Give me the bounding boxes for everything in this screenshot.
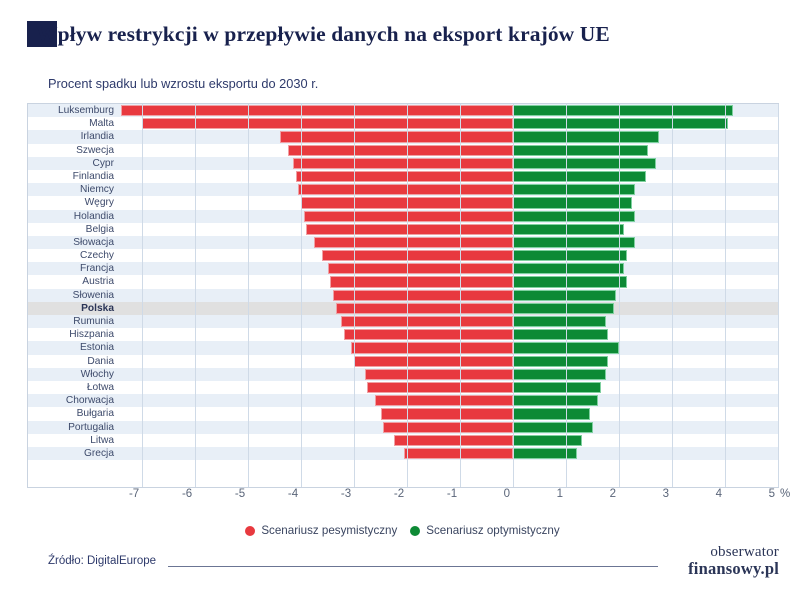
bar-pessimistic	[351, 342, 513, 353]
bar-optimistic	[513, 422, 592, 433]
bar-optimistic	[513, 290, 616, 301]
chart-row: Irlandia	[28, 130, 778, 143]
country-label: Chorwacja	[28, 394, 121, 407]
gridline	[778, 104, 779, 487]
country-label: Bułgaria	[28, 407, 121, 420]
chart-row: Holandia	[28, 210, 778, 223]
x-tick-label: -5	[235, 488, 248, 500]
bar-optimistic	[513, 263, 624, 274]
bar-pessimistic	[314, 237, 513, 248]
x-axis-unit: %	[780, 488, 790, 500]
x-tick-label: 5	[769, 488, 778, 500]
country-label: Łotwa	[28, 381, 121, 394]
country-label: Hiszpania	[28, 328, 121, 341]
chart-row: Słowenia	[28, 289, 778, 302]
legend-item[interactable]: Scenariusz optymistyczny	[410, 524, 559, 537]
chart-row: Luksemburg	[28, 104, 778, 117]
country-label: Luksemburg	[28, 104, 121, 117]
bar-optimistic	[513, 303, 614, 314]
bar-optimistic	[513, 382, 600, 393]
chart-subtitle: Procent spadku lub wzrostu eksportu do 2…	[48, 76, 318, 91]
row-plot	[121, 183, 778, 196]
country-label: Węgry	[28, 196, 121, 209]
country-label: Litwa	[28, 434, 121, 447]
chart-row: Szwecja	[28, 144, 778, 157]
bar-optimistic	[513, 237, 635, 248]
country-label: Polska	[28, 302, 121, 315]
bar-pessimistic	[288, 145, 513, 156]
chart-row: Rumunia	[28, 315, 778, 328]
chart-legend: Scenariusz pesymistycznyScenariusz optym…	[0, 524, 805, 537]
row-plot	[121, 170, 778, 183]
bar-optimistic	[513, 316, 606, 327]
chart-row: Francja	[28, 262, 778, 275]
country-label: Portugalia	[28, 421, 121, 434]
row-plot	[121, 249, 778, 262]
bar-pessimistic	[344, 329, 514, 340]
legend-label: Scenariusz optymistyczny	[426, 524, 559, 537]
legend-item[interactable]: Scenariusz pesymistyczny	[245, 524, 397, 537]
x-tick-label: -3	[341, 488, 354, 500]
chart-row: Słowacja	[28, 236, 778, 249]
bar-pessimistic	[298, 184, 513, 195]
brand-line-2: finansowy.pl	[688, 561, 779, 578]
bar-optimistic	[513, 395, 598, 406]
country-label: Słowacja	[28, 236, 121, 249]
bar-optimistic	[513, 158, 656, 169]
bar-pessimistic	[404, 448, 513, 459]
brand-line-1: obserwator	[688, 545, 779, 560]
row-plot	[121, 434, 778, 447]
chart-row: Estonia	[28, 341, 778, 354]
x-tick-label: -2	[394, 488, 407, 500]
country-label: Irlandia	[28, 130, 121, 143]
chart-page: Wpływ restrykcji w przepływie danych na …	[0, 0, 805, 589]
chart-row: Niemcy	[28, 183, 778, 196]
source-note: Źródło: DigitalEurope	[48, 555, 156, 567]
country-label: Dania	[28, 355, 121, 368]
bar-pessimistic	[142, 118, 513, 129]
country-label: Holandia	[28, 210, 121, 223]
bar-pessimistic	[381, 408, 513, 419]
chart-row: Węgry	[28, 196, 778, 209]
row-plot	[121, 117, 778, 130]
row-plot	[121, 328, 778, 341]
chart-row: Grecja	[28, 447, 778, 460]
country-label: Francja	[28, 262, 121, 275]
bar-pessimistic	[367, 382, 513, 393]
bar-pessimistic	[336, 303, 513, 314]
bar-pessimistic	[280, 131, 513, 142]
x-tick-label: -7	[129, 488, 142, 500]
bar-pessimistic	[328, 263, 513, 274]
row-plot	[121, 341, 778, 354]
row-plot	[121, 315, 778, 328]
bar-optimistic	[513, 145, 648, 156]
bar-optimistic	[513, 369, 606, 380]
chart-row: Czechy	[28, 249, 778, 262]
bar-optimistic	[513, 435, 582, 446]
row-plot	[121, 368, 778, 381]
x-tick-label: -4	[288, 488, 301, 500]
chart-row: Polska	[28, 302, 778, 315]
chart-row: Włochy	[28, 368, 778, 381]
bar-optimistic	[513, 118, 728, 129]
country-label: Włochy	[28, 368, 121, 381]
bar-optimistic	[513, 184, 635, 195]
chart-row: Belgia	[28, 223, 778, 236]
row-plot	[121, 236, 778, 249]
country-label: Grecja	[28, 447, 121, 460]
row-plot	[121, 289, 778, 302]
bar-optimistic	[513, 448, 577, 459]
row-plot	[121, 210, 778, 223]
row-plot	[121, 144, 778, 157]
bar-pessimistic	[341, 316, 513, 327]
chart-row: Finlandia	[28, 170, 778, 183]
row-plot	[121, 275, 778, 288]
row-plot	[121, 157, 778, 170]
bar-optimistic	[513, 105, 733, 116]
bar-optimistic	[513, 197, 632, 208]
chart-row: Austria	[28, 275, 778, 288]
bar-pessimistic	[301, 197, 513, 208]
page-title: Wpływ restrykcji w przepływie danych na …	[27, 19, 779, 49]
circle-icon	[410, 526, 420, 536]
chart-rows: LuksemburgMaltaIrlandiaSzwecjaCyprFinlan…	[28, 104, 778, 460]
row-plot	[121, 381, 778, 394]
bar-pessimistic	[365, 369, 513, 380]
circle-icon	[245, 526, 255, 536]
x-tick-label: 3	[663, 488, 672, 500]
x-tick-label: -1	[447, 488, 460, 500]
row-plot	[121, 421, 778, 434]
row-plot	[121, 104, 778, 117]
bar-optimistic	[513, 211, 635, 222]
legend-label: Scenariusz pesymistyczny	[261, 524, 397, 537]
bar-optimistic	[513, 250, 627, 261]
chart-row: Chorwacja	[28, 394, 778, 407]
bar-optimistic	[513, 408, 590, 419]
bar-optimistic	[513, 171, 645, 182]
chart-row: Bułgaria	[28, 407, 778, 420]
country-label: Austria	[28, 275, 121, 288]
country-label: Belgia	[28, 223, 121, 236]
chart-row: Litwa	[28, 434, 778, 447]
x-tick-label: 4	[716, 488, 725, 500]
x-tick-label: 0	[504, 488, 513, 500]
country-label: Malta	[28, 117, 121, 130]
bar-pessimistic	[383, 422, 513, 433]
country-label: Czechy	[28, 249, 121, 262]
chart-row: Łotwa	[28, 381, 778, 394]
footer-divider	[168, 566, 658, 567]
bar-optimistic	[513, 329, 608, 340]
row-plot	[121, 302, 778, 315]
country-label: Niemcy	[28, 183, 121, 196]
bar-pessimistic	[394, 435, 513, 446]
chart-plot-area: LuksemburgMaltaIrlandiaSzwecjaCyprFinlan…	[27, 103, 779, 488]
x-axis: -7-6-5-4-3-2-1012345%	[27, 488, 779, 510]
bar-pessimistic	[333, 290, 513, 301]
x-tick-label: 1	[557, 488, 566, 500]
row-plot	[121, 394, 778, 407]
page-title-text: Wpływ restrykcji w przepływie danych na …	[36, 22, 610, 47]
bar-pessimistic	[296, 171, 513, 182]
row-plot	[121, 223, 778, 236]
chart-row: Malta	[28, 117, 778, 130]
country-label: Cypr	[28, 157, 121, 170]
bar-optimistic	[513, 342, 619, 353]
chart-row: Hiszpania	[28, 328, 778, 341]
bar-pessimistic	[330, 276, 513, 287]
chart-row: Dania	[28, 355, 778, 368]
country-label: Finlandia	[28, 170, 121, 183]
row-plot	[121, 407, 778, 420]
chart-row: Cypr	[28, 157, 778, 170]
row-plot	[121, 262, 778, 275]
row-plot	[121, 355, 778, 368]
chart-row: Portugalia	[28, 421, 778, 434]
country-label: Szwecja	[28, 144, 121, 157]
country-label: Rumunia	[28, 315, 121, 328]
bar-pessimistic	[322, 250, 513, 261]
bar-pessimistic	[354, 356, 513, 367]
bar-pessimistic	[375, 395, 513, 406]
bar-pessimistic	[293, 158, 513, 169]
bar-optimistic	[513, 356, 608, 367]
bar-pessimistic	[304, 211, 513, 222]
bar-optimistic	[513, 131, 659, 142]
brand-logo: obserwator finansowy.pl	[688, 545, 779, 578]
bar-optimistic	[513, 224, 624, 235]
bar-optimistic	[513, 276, 627, 287]
bar-pessimistic	[306, 224, 513, 235]
x-tick-label: -6	[182, 488, 195, 500]
row-plot	[121, 447, 778, 460]
bar-pessimistic	[121, 105, 513, 116]
country-label: Słowenia	[28, 289, 121, 302]
row-plot	[121, 130, 778, 143]
country-label: Estonia	[28, 341, 121, 354]
row-plot	[121, 196, 778, 209]
x-tick-label: 2	[610, 488, 619, 500]
